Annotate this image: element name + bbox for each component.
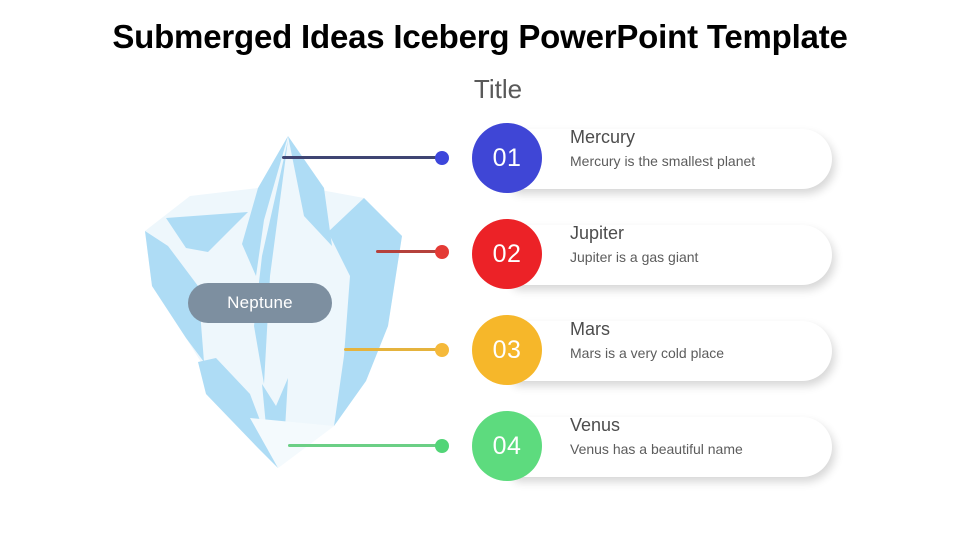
list-item[interactable]: 03 Mars Mars is a very cold place (472, 315, 832, 385)
list-item-text: Venus Venus has a beautiful name (570, 413, 832, 460)
list-item-description: Mercury is the smallest planet (570, 150, 832, 172)
iceberg-label-neptune[interactable]: Neptune (188, 283, 332, 323)
connector-dot-4 (435, 439, 449, 453)
list-item-description: Jupiter is a gas giant (570, 246, 832, 268)
list-item-description: Venus has a beautiful name (570, 438, 832, 460)
list-item-text: Jupiter Jupiter is a gas giant (570, 221, 832, 268)
connector-line-1 (282, 156, 442, 159)
connector-line-4 (288, 444, 442, 447)
connector-dot-3 (435, 343, 449, 357)
list-item-number-badge[interactable]: 03 (472, 315, 542, 385)
connector-line-3 (344, 348, 442, 351)
slide-canvas: Submerged Ideas Iceberg PowerPoint Templ… (0, 0, 960, 540)
connector-line-2 (376, 250, 442, 253)
list-item-description: Mars is a very cold place (570, 342, 832, 364)
list-item-title: Mercury (570, 125, 832, 149)
list-item-text: Mars Mars is a very cold place (570, 317, 832, 364)
list-item[interactable]: 02 Jupiter Jupiter is a gas giant (472, 219, 832, 289)
list-item-number-badge[interactable]: 01 (472, 123, 542, 193)
list-item-number-badge[interactable]: 04 (472, 411, 542, 481)
section-subtitle: Title (398, 74, 598, 105)
connector-dot-2 (435, 245, 449, 259)
list-item-text: Mercury Mercury is the smallest planet (570, 125, 832, 172)
connector-dot-1 (435, 151, 449, 165)
list-item-title: Mars (570, 317, 832, 341)
list-item-title: Jupiter (570, 221, 832, 245)
list-item-title: Venus (570, 413, 832, 437)
list-item-number-badge[interactable]: 02 (472, 219, 542, 289)
page-title: Submerged Ideas Iceberg PowerPoint Templ… (0, 18, 960, 56)
list-item[interactable]: 04 Venus Venus has a beautiful name (472, 411, 832, 481)
list-item[interactable]: 01 Mercury Mercury is the smallest plane… (472, 123, 832, 193)
